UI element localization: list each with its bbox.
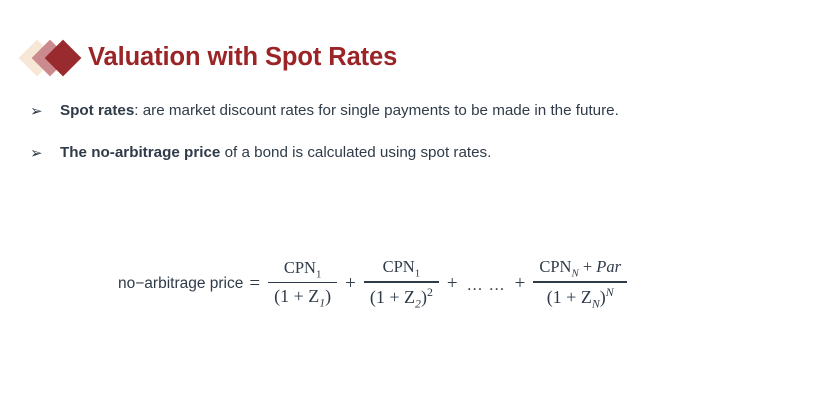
no-arbitrage-price-formula: no−arbitrage price = CPN1 (1 + Z1) + CPN… <box>118 258 628 311</box>
denominator-open: (1 + Z <box>370 287 415 307</box>
numerator-base: CPN <box>539 257 571 276</box>
arrow-bullet-icon: ➢ <box>30 138 60 168</box>
formula-term-2: CPN1 (1 + Z2)2 <box>364 258 439 311</box>
slide-canvas: Valuation with Spot Rates ➢ Spot rates: … <box>0 0 814 415</box>
formula-term-2-denominator: (1 + Z2)2 <box>364 283 439 311</box>
formula-term-1-numerator: CPN1 <box>278 259 328 282</box>
denominator-exponent: 2 <box>427 285 433 299</box>
numerator-base: CPN <box>383 257 415 276</box>
formula-label: no−arbitrage price <box>118 275 243 293</box>
denominator-open: (1 + Z <box>274 286 319 306</box>
arrow-bullet-icon: ➢ <box>30 96 60 126</box>
numerator-subscript: N <box>571 267 578 279</box>
bullet-text-spot-rates: Spot rates: are market discount rates fo… <box>60 96 736 126</box>
bullet-rest: : are market discount rates for single p… <box>134 102 619 119</box>
page-title: Valuation with Spot Rates <box>88 45 397 71</box>
bullet-rest: of a bond is calculated using spot rates… <box>220 144 491 161</box>
list-item: ➢ The no-arbitrage price of a bond is ca… <box>30 138 770 168</box>
numerator-tail: Par <box>596 257 621 276</box>
formula-plus-1: + <box>345 273 356 295</box>
list-item: ➢ Spot rates: are market discount rates … <box>30 96 770 126</box>
formula-plus-2: + <box>447 273 458 295</box>
numerator-subscript: 1 <box>316 268 321 280</box>
formula-term-2-numerator: CPN1 <box>377 258 427 281</box>
formula-term-n-numerator: CPNN + Par <box>533 258 627 281</box>
formula-plus-3: + <box>515 273 526 295</box>
denominator-exponent: N <box>606 285 614 299</box>
formula-term-1: CPN1 (1 + Z1) <box>268 259 337 311</box>
denominator-close: ) <box>325 286 331 306</box>
formula-equals-sign: = <box>249 273 260 295</box>
numerator-base: CPN <box>284 258 316 277</box>
bullet-text-no-arbitrage: The no-arbitrage price of a bond is calc… <box>60 138 736 168</box>
numerator-tail-operator: + <box>583 257 592 276</box>
formula-term-n: CPNN + Par (1 + ZN)N <box>533 258 627 311</box>
numerator-subscript: 1 <box>415 267 420 279</box>
bullet-bold-lead: Spot rates <box>60 102 134 119</box>
denominator-open: (1 + Z <box>547 287 592 307</box>
diamond-logo-icon <box>24 37 82 79</box>
bullet-list: ➢ Spot rates: are market discount rates … <box>30 96 770 180</box>
formula-term-n-denominator: (1 + ZN)N <box>541 283 620 311</box>
formula-ellipsis: … … <box>467 273 506 295</box>
slide-title-row: Valuation with Spot Rates <box>24 36 397 80</box>
formula-term-1-denominator: (1 + Z1) <box>268 283 337 310</box>
denominator-subscript: N <box>592 296 600 310</box>
bullet-bold-lead: The no-arbitrage price <box>60 144 220 161</box>
